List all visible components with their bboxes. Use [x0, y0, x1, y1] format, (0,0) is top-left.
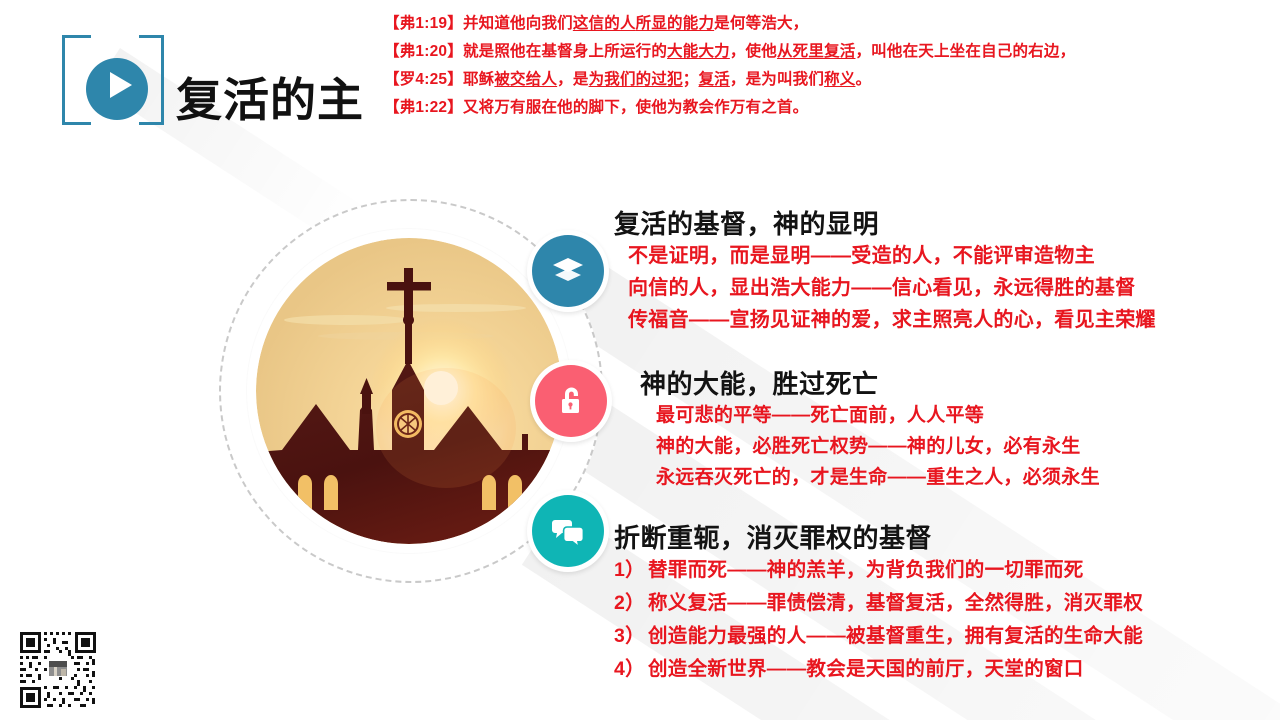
section-3-item-1-text: 替罪而死——神的羔羊，为背负我们的一切罪而死 — [648, 554, 1084, 587]
verse-ref-1: 【弗1:19】 — [384, 15, 463, 32]
section-3: 折断重轭，消灭罪权的基督 1） 替罪而死——神的羔羊，为背负我们的一切罪而死 2… — [614, 522, 1143, 686]
section-1: 复活的基督，神的显明 不是证明，而是显明——受造的人，不能评审造物主 向信的人，… — [614, 208, 1156, 336]
verse-text-2: 就是照他在基督身上所运行的大能大力，使他从死里复活，叫他在天上坐在自己的右边， — [463, 43, 1075, 60]
section-3-item-3: 3） 创造能力最强的人——被基督重生，拥有复活的生命大能 — [614, 620, 1143, 653]
church-sunset-photo — [256, 238, 562, 544]
section-1-heading: 复活的基督，神的显明 — [614, 208, 1156, 240]
scripture-verse-1: 【弗1:19】并知道他向我们这信的人所显的能力是何等浩大， — [384, 10, 1274, 38]
section-3-item-1-number: 1） — [614, 554, 648, 587]
section-3-item-4-text: 创造全新世界——教会是天国的前厅，天堂的窗口 — [648, 653, 1084, 686]
scripture-verse-2: 【弗1:20】就是照他在基督身上所运行的大能大力，使他从死里复活，叫他在天上坐在… — [384, 38, 1274, 66]
section-3-item-1: 1） 替罪而死——神的羔羊，为背负我们的一切罪而死 — [614, 554, 1143, 587]
bullet-unlock[interactable] — [530, 360, 612, 442]
section-2-heading: 神的大能，胜过死亡 — [640, 368, 1100, 400]
verse-ref-2: 【弗1:20】 — [384, 43, 463, 60]
verse-ref-3: 【罗4:25】 — [384, 71, 463, 88]
section-2-line-1: 最可悲的平等——死亡面前，人人平等 — [640, 400, 1100, 431]
section-2-line-2: 神的大能，必胜死亡权势——神的儿女，必有永生 — [640, 431, 1100, 462]
brand-logo: 复活的主 — [56, 28, 356, 136]
section-3-item-2-text: 称义复活——罪债偿清，基督复活，全然得胜，消灭罪权 — [648, 587, 1143, 620]
section-3-item-3-number: 3） — [614, 620, 648, 653]
section-1-line-1: 不是证明，而是显明——受造的人，不能评审造物主 — [614, 240, 1156, 272]
page-title: 复活的主 — [176, 64, 364, 130]
scripture-verse-3: 【罗4:25】耶稣被交给人，是为我们的过犯；复活，是为叫我们称义。 — [384, 66, 1274, 94]
speech-bubbles-icon — [532, 495, 604, 567]
section-1-line-2: 向信的人，显出浩大能力——信心看见，永远得胜的基督 — [614, 272, 1156, 304]
section-3-item-2-number: 2） — [614, 587, 648, 620]
section-3-item-2: 2） 称义复活——罪债偿清，基督复活，全然得胜，消灭罪权 — [614, 587, 1143, 620]
section-1-line-3: 传福音——宣扬见证神的爱，求主照亮人的心，看见主荣耀 — [614, 304, 1156, 336]
verse-text-1: 并知道他向我们这信的人所显的能力是何等浩大， — [463, 15, 808, 32]
section-3-heading: 折断重轭，消灭罪权的基督 — [614, 522, 1143, 554]
section-3-item-4-number: 4） — [614, 653, 648, 686]
play-triangle-icon — [110, 72, 132, 98]
bullet-speech[interactable] — [527, 490, 609, 572]
section-2: 神的大能，胜过死亡 最可悲的平等——死亡面前，人人平等 神的大能，必胜死亡权势—… — [640, 368, 1100, 493]
verse-ref-4: 【弗1:22】 — [384, 99, 463, 116]
section-3-item-3-text: 创造能力最强的人——被基督重生，拥有复活的生命大能 — [648, 620, 1143, 653]
qr-code-icon[interactable] — [16, 628, 100, 712]
section-3-item-4: 4） 创造全新世界——教会是天国的前厅，天堂的窗口 — [614, 653, 1143, 686]
scripture-block: 【弗1:19】并知道他向我们这信的人所显的能力是何等浩大， 【弗1:20】就是照… — [384, 10, 1274, 122]
bullet-layers[interactable] — [527, 230, 609, 312]
scripture-verse-4: 【弗1:22】又将万有服在他的脚下，使他为教会作万有之首。 — [384, 94, 1274, 122]
unlock-icon — [535, 365, 607, 437]
section-2-line-3: 永远吞灭死亡的，才是生命——重生之人，必须永生 — [640, 462, 1100, 493]
verse-text-4: 又将万有服在他的脚下，使他为教会作万有之首。 — [463, 99, 808, 116]
slide-root: 复活的主 【弗1:19】并知道他向我们这信的人所显的能力是何等浩大， 【弗1:2… — [0, 0, 1280, 720]
verse-text-3: 耶稣被交给人，是为我们的过犯；复活，是为叫我们称义。 — [463, 71, 871, 88]
layers-icon — [532, 235, 604, 307]
